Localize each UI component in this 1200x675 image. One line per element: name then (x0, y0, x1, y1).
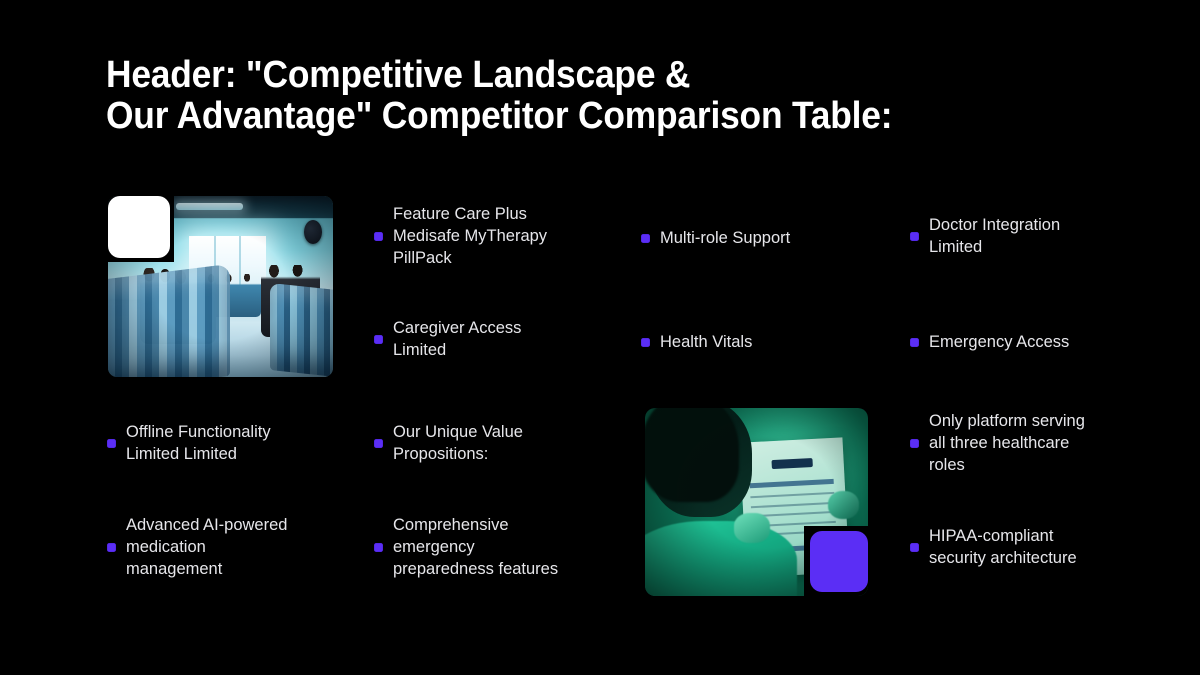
white-rounded-square-accent (108, 196, 170, 258)
list-item-advanced-ai-medication[interactable]: Advanced AI-powered medication managemen… (107, 515, 347, 580)
list-item-label: Only platform serving all three healthca… (929, 411, 1085, 476)
list-item-doctor-integration[interactable]: Doctor Integration Limited (910, 215, 1140, 259)
list-item-label: HIPAA-compliant security architecture (929, 526, 1077, 570)
bullet-marker-icon (641, 338, 650, 347)
list-item-label: Our Unique Value Propositions: (393, 422, 523, 466)
list-item-offline-functionality[interactable]: Offline Functionality Limited Limited (107, 422, 347, 466)
list-item-only-platform-three-roles[interactable]: Only platform serving all three healthca… (910, 411, 1125, 476)
list-item-health-vitals[interactable]: Health Vitals (641, 332, 871, 354)
bullet-marker-icon (910, 439, 919, 448)
bullet-marker-icon (107, 543, 116, 552)
bullet-marker-icon (910, 543, 919, 552)
list-item-label: Emergency Access (929, 332, 1069, 354)
list-item-multi-role-support[interactable]: Multi-role Support (641, 228, 871, 250)
bullet-marker-icon (374, 439, 383, 448)
list-item-emergency-access[interactable]: Emergency Access (910, 332, 1140, 354)
bullet-marker-icon (374, 335, 383, 344)
bullet-marker-icon (641, 234, 650, 243)
list-item-label: Caregiver Access Limited (393, 318, 521, 362)
list-item-comprehensive-emergency[interactable]: Comprehensive emergency preparedness fea… (374, 515, 604, 580)
bullet-marker-icon (374, 232, 383, 241)
list-item-label: Offline Functionality Limited Limited (126, 422, 271, 466)
list-item-label: Comprehensive emergency preparedness fea… (393, 515, 558, 580)
list-item-hipaa-compliant-security[interactable]: HIPAA-compliant security architecture (910, 526, 1140, 570)
list-item-label: Advanced AI-powered medication managemen… (126, 515, 287, 580)
bullet-marker-icon (374, 543, 383, 552)
list-item-label: Feature Care Plus Medisafe MyTherapy Pil… (393, 204, 547, 269)
list-item-label: Multi-role Support (660, 228, 790, 250)
list-item-label: Doctor Integration Limited (929, 215, 1060, 259)
purple-rounded-square-accent (810, 531, 868, 592)
list-item-feature-care-plus[interactable]: Feature Care Plus Medisafe MyTherapy Pil… (374, 204, 604, 269)
list-item-label: Health Vitals (660, 332, 752, 354)
list-item-caregiver-access[interactable]: Caregiver Access Limited (374, 318, 604, 362)
page-title: Header: "Competitive Landscape & Our Adv… (106, 55, 1036, 138)
bullet-marker-icon (910, 338, 919, 347)
list-item-unique-value-propositions[interactable]: Our Unique Value Propositions: (374, 422, 604, 466)
bullet-marker-icon (910, 232, 919, 241)
bullet-marker-icon (107, 439, 116, 448)
